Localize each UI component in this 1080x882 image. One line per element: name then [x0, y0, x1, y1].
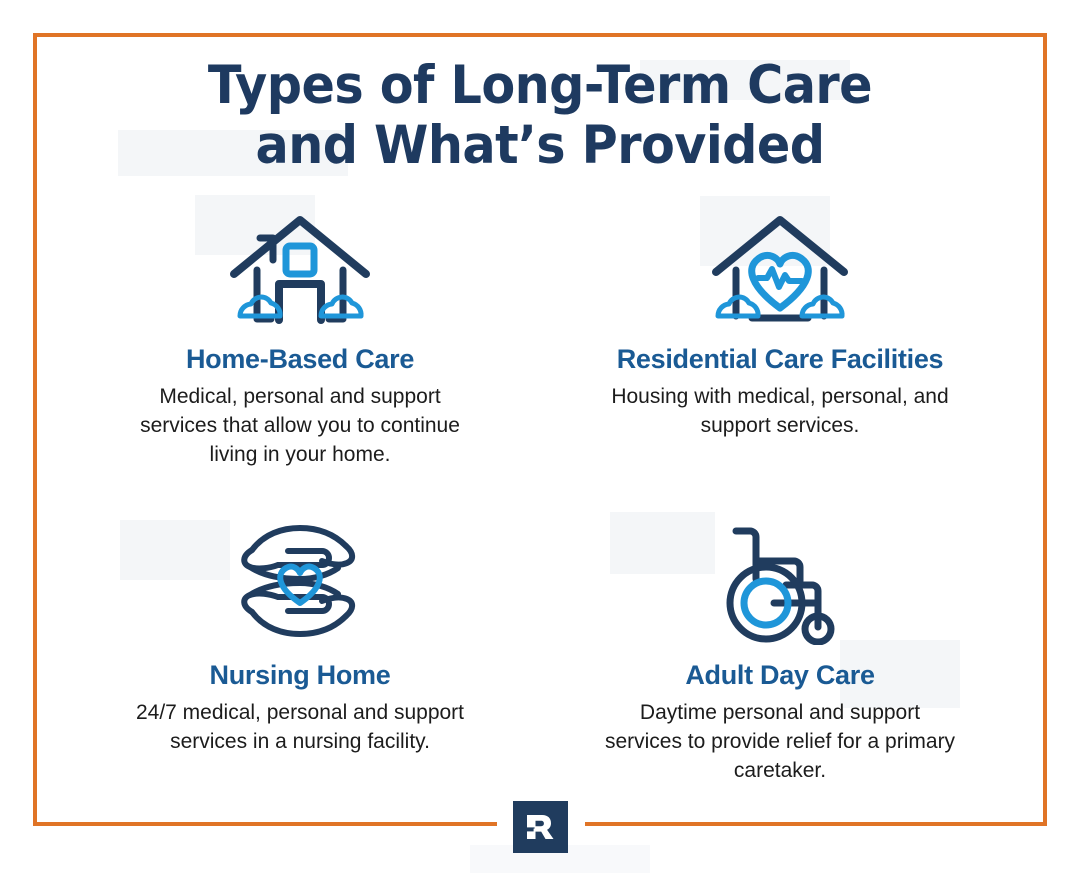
- card-description: Daytime personal and support services to…: [600, 699, 960, 786]
- card-title: Nursing Home: [210, 660, 391, 691]
- house-with-heart-icon: [706, 210, 854, 330]
- house-icon: [226, 210, 374, 330]
- card-description: Housing with medical, personal, and supp…: [600, 383, 960, 441]
- grid-row-1: Home-Based Care Medical, personal and su…: [60, 210, 1020, 470]
- page-title: Types of Long-Term Care and What’s Provi…: [38, 56, 1042, 177]
- grid-row-2: Nursing Home 24/7 medical, personal and …: [60, 516, 1020, 786]
- hands-holding-heart-icon: [230, 516, 370, 646]
- card-nursing-home: Nursing Home 24/7 medical, personal and …: [60, 516, 540, 786]
- wheelchair-icon: [714, 516, 846, 646]
- card-adult-day-care: Adult Day Care Daytime personal and supp…: [540, 516, 1020, 786]
- page-title-line-1: Types of Long-Term Care: [38, 56, 1042, 116]
- card-residential-care-facilities: Residential Care Facilities Housing with…: [540, 210, 1020, 470]
- care-types-grid: Home-Based Care Medical, personal and su…: [60, 210, 1020, 786]
- card-description: Medical, personal and support services t…: [120, 383, 480, 470]
- logo-letter-r-icon: [524, 811, 558, 843]
- infographic-content: Types of Long-Term Care and What’s Provi…: [0, 0, 1080, 882]
- card-title: Home-Based Care: [186, 344, 414, 375]
- card-home-based-care: Home-Based Care Medical, personal and su…: [60, 210, 540, 470]
- card-title: Residential Care Facilities: [617, 344, 944, 375]
- page-title-line-2: and What’s Provided: [38, 116, 1042, 176]
- card-title: Adult Day Care: [685, 660, 874, 691]
- card-description: 24/7 medical, personal and support servi…: [120, 699, 480, 757]
- ramsey-logo: [513, 801, 568, 853]
